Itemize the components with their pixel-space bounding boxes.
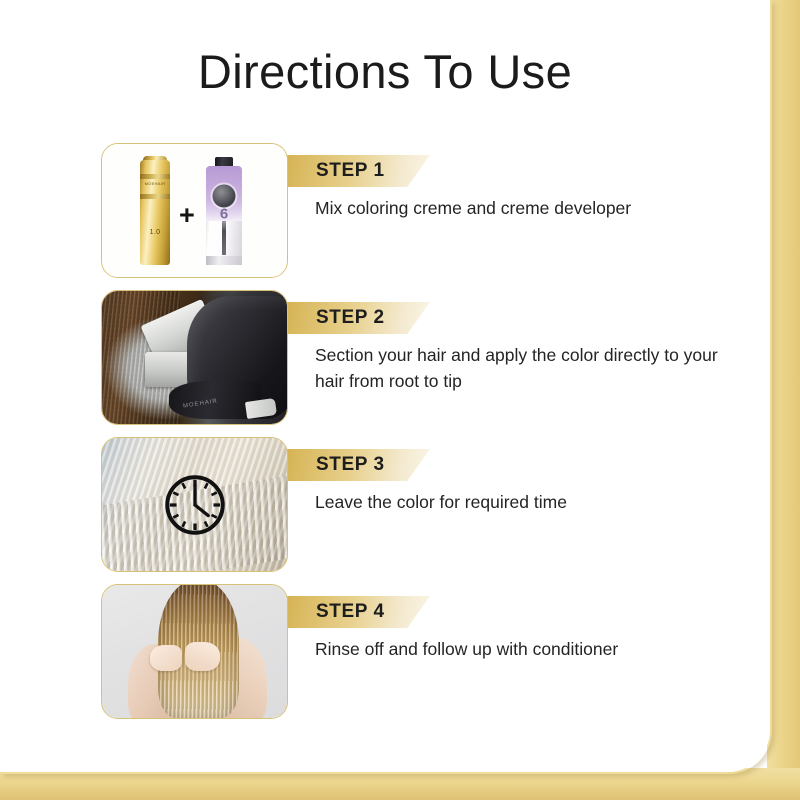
step-image-card-2: MOEHAIR	[101, 290, 288, 425]
step-banner-4: STEP 4	[268, 596, 430, 628]
gold-frame-right	[767, 0, 800, 800]
step-image-card-3	[101, 437, 288, 572]
step-image-card-4	[101, 584, 288, 719]
step-description: Leave the color for required time	[315, 489, 735, 515]
step-label: STEP 2	[316, 307, 385, 329]
step-image-4	[102, 585, 287, 718]
step-label: STEP 1	[316, 160, 385, 182]
step-banner-1: STEP 1	[268, 155, 430, 187]
bottle-ring-graphic	[213, 184, 236, 207]
list-item: STEP 3 Leave the color for required time	[0, 437, 770, 584]
clock-icon	[162, 472, 228, 538]
gold-frame-bottom	[0, 768, 800, 800]
tube-band-upper	[140, 174, 170, 179]
step-banner-2: STEP 2	[268, 302, 430, 334]
step-description: Rinse off and follow up with conditioner	[315, 636, 735, 662]
page-title: Directions To Use	[0, 44, 770, 99]
bottle-volume-text: 6	[220, 205, 228, 222]
tube-band-lower	[140, 194, 170, 199]
left-hand	[150, 645, 181, 672]
step-image-3	[102, 438, 287, 571]
step-label: STEP 3	[316, 454, 385, 476]
step-image-card-1: MOEHAIR 1.0 + 6	[101, 143, 288, 278]
bottle-base	[206, 256, 242, 265]
tube-code-text: 1.0	[140, 229, 170, 236]
step-description: Section your hair and apply the color di…	[315, 342, 735, 394]
step-label: STEP 4	[316, 601, 385, 623]
step-image-2: MOEHAIR	[102, 291, 287, 424]
right-hand	[185, 642, 220, 671]
list-item: STEP 2 Section your hair and apply the c…	[0, 290, 770, 437]
step-banner-3: STEP 3	[268, 449, 430, 481]
directions-to-use-page: Directions To Use STEP 1 Mix coloring cr…	[0, 0, 800, 800]
tube-brand-text: MOEHAIR	[140, 181, 170, 186]
step-description: Mix coloring creme and creme developer	[315, 195, 735, 221]
creme-developer-bottle-icon: 6	[206, 166, 242, 265]
list-item: STEP 1 Mix coloring creme and creme deve…	[0, 143, 770, 290]
steps-list: STEP 1 Mix coloring creme and creme deve…	[0, 143, 770, 731]
step-image-1: MOEHAIR 1.0 + 6	[102, 144, 287, 277]
plus-icon: +	[179, 202, 195, 229]
list-item: STEP 4 Rinse off and follow up with cond…	[0, 584, 770, 731]
